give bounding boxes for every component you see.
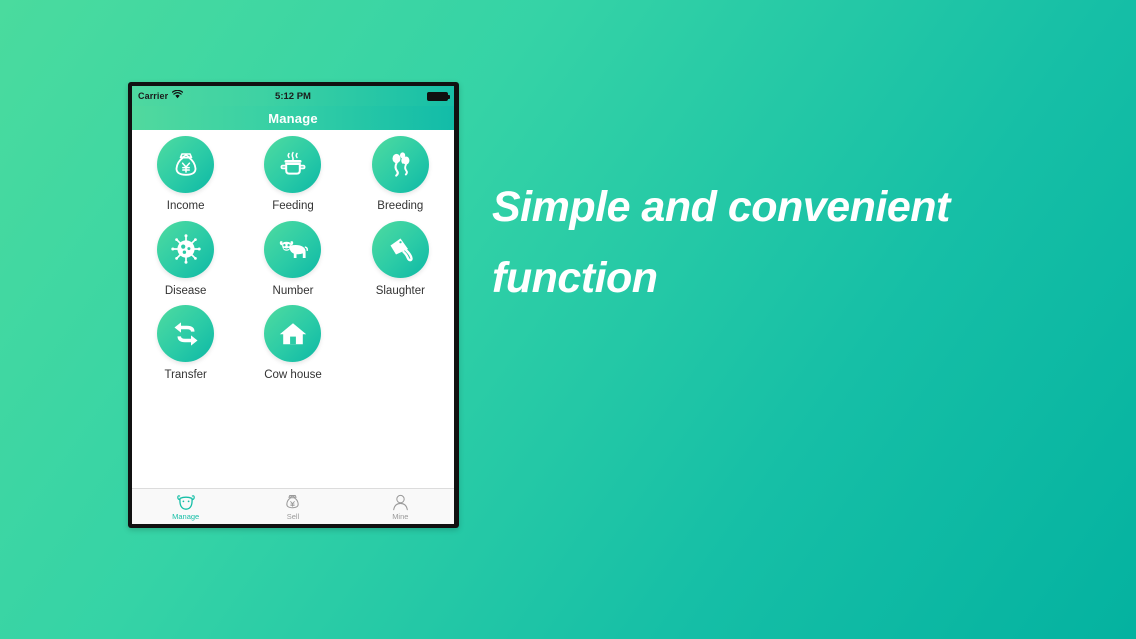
tab-label: Sell [287, 513, 300, 521]
cow-icon [264, 221, 321, 278]
grid-item-feeding[interactable]: Feeding [239, 136, 346, 213]
grid-item-label: Number [273, 285, 314, 298]
content-area: Income [132, 130, 454, 488]
grid-empty-cell [347, 305, 454, 382]
tagline-line-1: Simple and convenient [492, 172, 1052, 243]
grid-item-breeding[interactable]: Breeding [347, 136, 454, 213]
tab-sell[interactable]: Sell [239, 489, 346, 524]
tagline-line-2: function [492, 243, 1052, 314]
status-bar-right [427, 92, 448, 101]
grid-item-label: Income [167, 200, 205, 213]
nav-bar: Manage [132, 106, 454, 130]
person-outline-icon [392, 493, 409, 512]
grid-item-label: Transfer [164, 369, 206, 382]
page-title: Manage [268, 111, 318, 126]
house-icon [264, 305, 321, 362]
status-bar-time: 5:12 PM [132, 91, 454, 102]
cow-outline-icon [176, 493, 196, 512]
sperm-icon [372, 136, 429, 193]
cleaver-icon [372, 221, 429, 278]
grid-item-slaughter[interactable]: Slaughter [347, 221, 454, 298]
battery-full-icon [427, 92, 448, 101]
transfer-arrows-icon [157, 305, 214, 362]
grid-item-label: Feeding [272, 200, 314, 213]
grid-item-label: Slaughter [376, 285, 425, 298]
money-bag-outline-icon [284, 493, 301, 512]
feature-grid: Income [132, 136, 454, 382]
cooking-pot-icon [264, 136, 321, 193]
phone-mockup: Carrier 5:12 PM Manage [128, 82, 459, 528]
tab-manage[interactable]: Manage [132, 489, 239, 524]
grid-item-cow-house[interactable]: Cow house [239, 305, 346, 382]
grid-item-label: Cow house [264, 369, 322, 382]
money-bag-yen-icon [157, 136, 214, 193]
status-bar: Carrier 5:12 PM [132, 86, 454, 106]
grid-item-income[interactable]: Income [132, 136, 239, 213]
grid-item-transfer[interactable]: Transfer [132, 305, 239, 382]
grid-item-label: Disease [165, 285, 207, 298]
tab-bar: Manage Sell [132, 488, 454, 524]
tab-label: Mine [392, 513, 408, 521]
tab-mine[interactable]: Mine [347, 489, 454, 524]
grid-item-number[interactable]: Number [239, 221, 346, 298]
phone-screen: Carrier 5:12 PM Manage [132, 86, 454, 524]
virus-icon [157, 221, 214, 278]
tagline: Simple and convenient function [492, 172, 1052, 314]
grid-item-disease[interactable]: Disease [132, 221, 239, 298]
tab-label: Manage [172, 513, 199, 521]
grid-item-label: Breeding [377, 200, 423, 213]
